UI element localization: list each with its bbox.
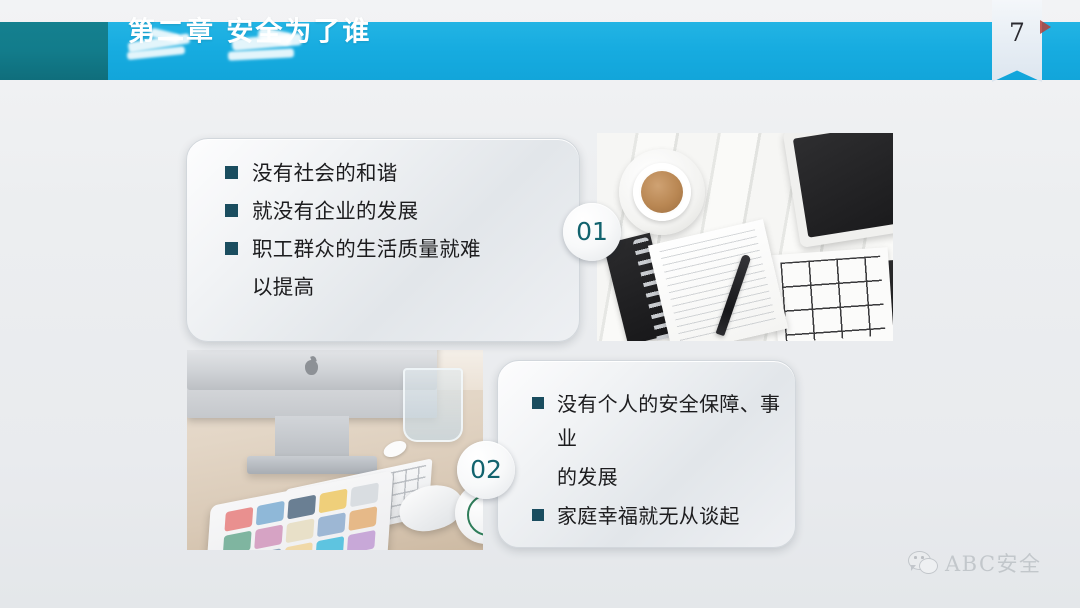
bullet-square-icon [225,204,238,217]
photo-desk-flatlay [597,133,893,341]
ipad-app-icon [284,542,313,550]
bullet-text-continuation: 的发展 [532,460,781,494]
ipad-app-icon [317,512,346,537]
list-item: 家庭幸福就无从谈起 [532,499,781,533]
bullet-text: 职工群众的生活质量就难 [252,233,481,266]
apple-logo-icon [305,360,318,375]
wechat-bubble-tail [911,565,916,571]
wechat-eye-dot [914,556,917,559]
ipad-app-icon [286,518,315,543]
ipad-app-icon [348,506,377,531]
list-item: 就没有企业的发展 [225,195,561,228]
bullet-square-icon [225,242,238,255]
slide-root: 第二章 安全为了谁 7 [0,0,1080,608]
page-number-label: 7 [992,0,1042,66]
card-01-body: 没有社会的和谐 就没有企业的发展 职工群众的生活质量就难 以提高 [225,157,561,309]
ipad-app-icon [287,495,316,520]
tablet-device [783,133,893,248]
coffee-liquid [641,171,683,213]
page-number-bookmark: 7 [992,0,1042,82]
photo-imac-desk [187,350,483,550]
bullet-square-icon [532,397,544,409]
ipad-app-icon [256,501,285,526]
list-item: 没有个人的安全保障、事业 [532,387,781,455]
ipad-app-icon [315,535,344,550]
bullet-text: 没有个人的安全保障、事业 [557,387,781,455]
ipad-app-icon [350,482,379,507]
imac-stand-neck [275,416,349,460]
card-number-badge-02: 02 [457,441,515,499]
ipad-app-icon [347,529,376,550]
ipad-app-icon [223,530,252,550]
card-number-badge-01: 01 [563,203,621,261]
bullet-text: 没有社会的和谐 [252,157,398,190]
card-02-body: 没有个人的安全保障、事业 的发展 家庭幸福就无从谈起 [532,387,781,538]
ipad-app-icon [319,488,348,513]
bullet-square-icon [532,509,544,521]
drinking-glass [403,368,463,442]
bullet-text: 家庭幸福就无从谈起 [557,499,740,533]
imac-display [187,350,437,418]
wechat-icon [908,550,938,576]
header-left-accent-block [0,22,108,80]
bullet-text-continuation: 以提高 [225,271,561,304]
bullet-square-icon [225,166,238,179]
wechat-bubble-small [919,558,938,574]
planner-grid-lines [780,256,885,341]
ipad-app-icon [224,507,253,532]
bullet-text: 就没有企业的发展 [252,195,418,228]
tablet-screen [793,133,893,238]
watermark: ABC安全 [908,548,1042,578]
imac-stand-foot [247,456,377,474]
watermark-label: ABC安全 [945,548,1042,578]
page-title: 第二章 安全为了谁 [128,10,371,49]
ipad-app-icon [254,524,283,549]
list-item: 职工群众的生活质量就难 [225,233,561,266]
content-card-02: 没有个人的安全保障、事业 的发展 家庭幸福就无从谈起 [497,360,796,548]
list-item: 没有社会的和谐 [225,157,561,190]
content-card-01: 没有社会的和谐 就没有企业的发展 职工群众的生活质量就难 以提高 [186,138,580,342]
planner-notebook [772,247,893,341]
